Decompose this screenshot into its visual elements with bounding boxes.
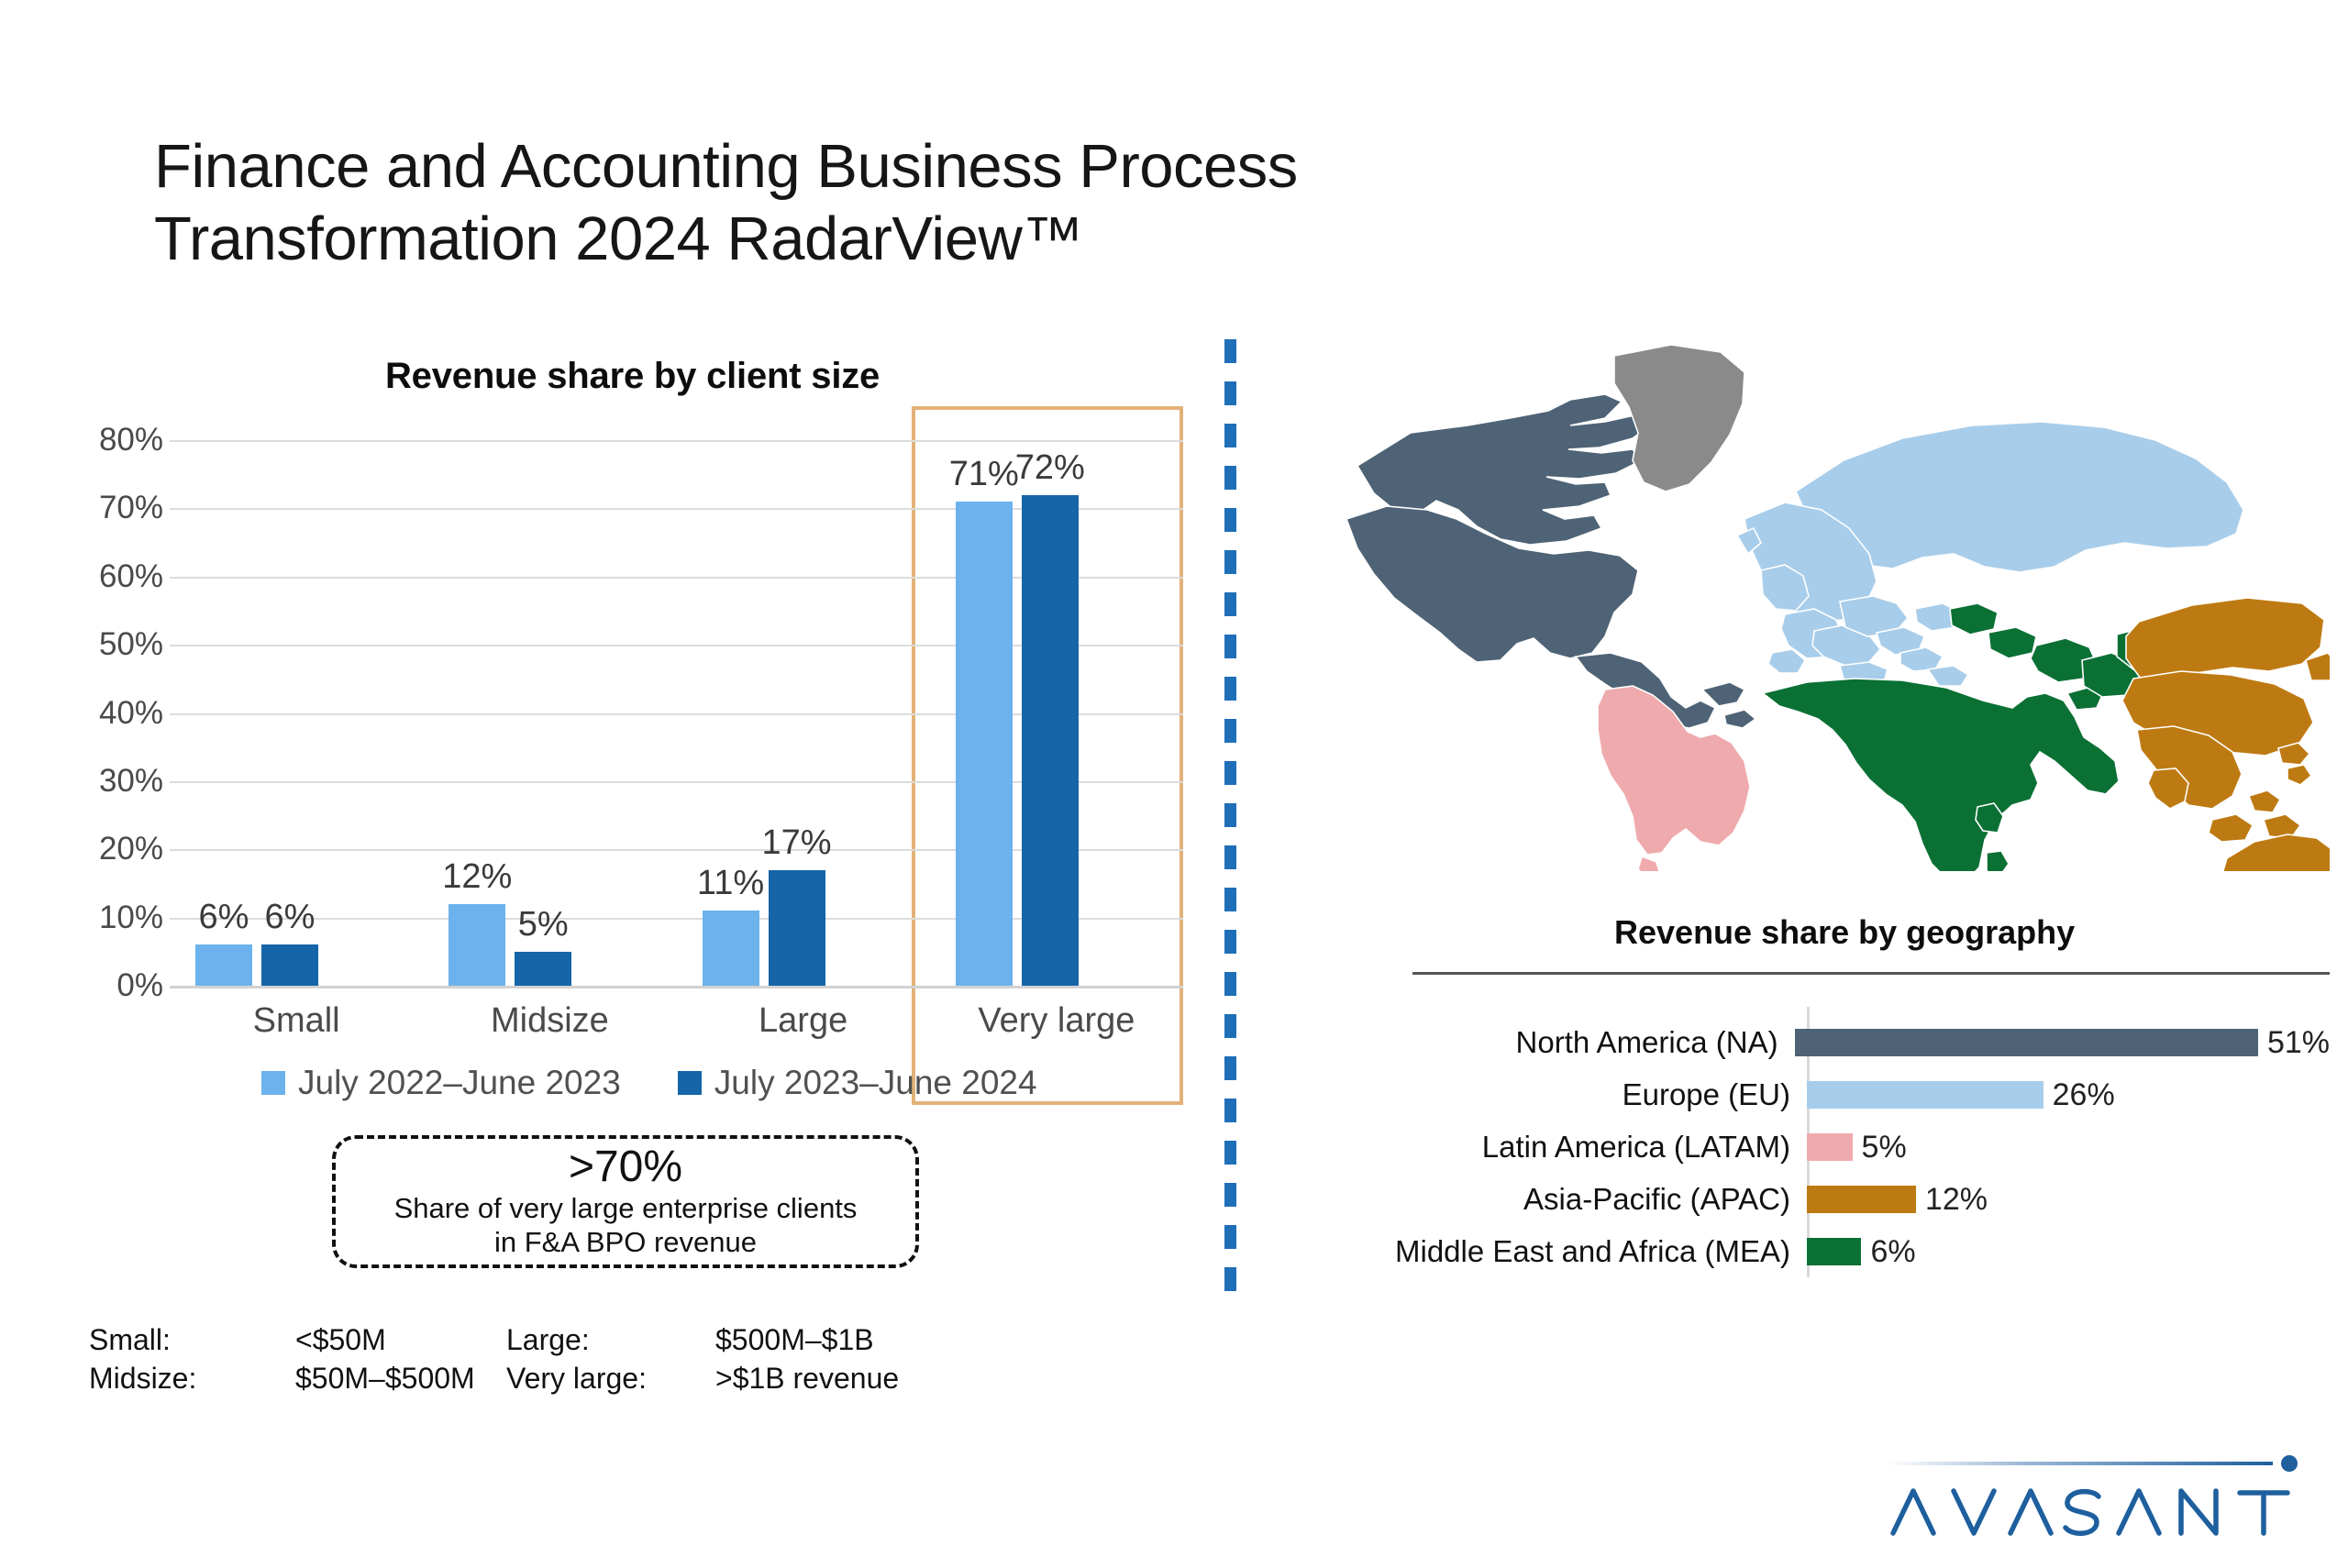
- bar-value-label: 6%: [265, 898, 316, 937]
- bar-value-label: 5%: [518, 905, 569, 944]
- geography-chart: North America (NA)51%Europe (EU)26%Latin…: [1376, 1018, 2330, 1284]
- callout-line-2: in F&A BPO revenue: [494, 1226, 757, 1260]
- callout-line-1: Share of very large enterprise clients: [394, 1192, 858, 1226]
- footnote-val-small: <$50M: [295, 1320, 506, 1359]
- geography-bar-area: 12%: [1807, 1175, 2330, 1224]
- bar-value-label: 11%: [697, 864, 764, 903]
- x-axis-category-label: Midsize: [423, 1001, 676, 1041]
- y-axis-tick-label: 30%: [99, 763, 163, 800]
- bar: 72%: [1022, 495, 1079, 987]
- gridline: [170, 986, 1183, 988]
- x-axis-category-label: Small: [170, 1001, 423, 1041]
- y-axis-tick-label: 10%: [99, 900, 163, 936]
- bar: 71%: [956, 502, 1013, 986]
- y-axis-tick-label: 40%: [99, 695, 163, 732]
- x-axis-category-label: Very large: [930, 1001, 1183, 1041]
- geography-row: Asia-Pacific (APAC)12%: [1376, 1175, 2330, 1224]
- bar-group: 11%17%: [677, 440, 930, 986]
- footnote-row: Small: <$50M Large: $500M–$1B: [89, 1320, 899, 1359]
- bar: 6%: [261, 944, 318, 986]
- bar: 11%: [703, 911, 759, 986]
- bar: 5%: [515, 952, 571, 986]
- client-size-legend: July 2022–June 2023July 2023–June 2024: [261, 1064, 1037, 1102]
- geography-bar-area: 6%: [1807, 1227, 2330, 1276]
- bar-group: 12%5%: [423, 440, 676, 986]
- footnote-key-very-large: Very large:: [506, 1359, 715, 1397]
- page-title: Finance and Accounting Business Process …: [154, 130, 1713, 275]
- geography-label: Europe (EU): [1376, 1077, 1807, 1112]
- y-axis-tick-label: 20%: [99, 831, 163, 867]
- geography-chart-title: Revenue share by geography: [1614, 913, 2075, 952]
- legend-item: July 2022–June 2023: [261, 1064, 621, 1102]
- geography-value-label: 51%: [2267, 1025, 2330, 1061]
- geography-bar: [1807, 1081, 2043, 1109]
- y-axis-tick-label: 70%: [99, 490, 163, 526]
- geography-row: North America (NA)51%: [1376, 1018, 2330, 1067]
- geography-row: Latin America (LATAM)5%: [1376, 1122, 2330, 1172]
- geography-value-label: 26%: [2053, 1077, 2115, 1113]
- bar: 17%: [769, 870, 825, 986]
- geography-bar: [1795, 1029, 2258, 1056]
- callout-box: >70% Share of very large enterprise clie…: [332, 1135, 919, 1268]
- geography-label: Middle East and Africa (MEA): [1376, 1234, 1807, 1269]
- bar-value-label: 72%: [1015, 448, 1085, 488]
- geography-row: Europe (EU)26%: [1376, 1070, 2330, 1120]
- avasant-logo: [1888, 1454, 2309, 1546]
- legend-swatch: [678, 1071, 702, 1095]
- legend-label: July 2022–June 2023: [298, 1064, 621, 1102]
- footnote-val-midsize: $50M–$500M: [295, 1359, 506, 1397]
- y-axis-tick-label: 0%: [116, 967, 163, 1004]
- geography-bar-area: 5%: [1807, 1122, 2330, 1172]
- client-size-chart-title: Revenue share by client size: [385, 356, 880, 397]
- geography-label: North America (NA): [1376, 1025, 1795, 1060]
- geography-bar-area: 26%: [1807, 1070, 2330, 1120]
- map-region-apac: [2122, 598, 2330, 871]
- geography-bar: [1807, 1186, 1916, 1213]
- y-axis-tick-label: 80%: [99, 422, 163, 458]
- geography-value-label: 6%: [1870, 1234, 1915, 1270]
- slide-root: Finance and Accounting Business Process …: [0, 0, 2348, 1568]
- bar: 12%: [449, 904, 505, 986]
- bar: 6%: [195, 944, 252, 986]
- footnote-key-small: Small:: [89, 1320, 295, 1359]
- map-region-latin-america: [1598, 686, 1750, 871]
- bar-group: 6%6%: [170, 440, 423, 986]
- client-size-plot: 6%6%Small12%5%Midsize11%17%Large71%72%Ve…: [170, 440, 1183, 986]
- legend-label: July 2023–June 2024: [714, 1064, 1037, 1102]
- y-axis-tick-label: 50%: [99, 626, 163, 663]
- map-region-greenland: [1614, 345, 1744, 491]
- geography-bar-area: 51%: [1795, 1018, 2330, 1067]
- footnote-key-large: Large:: [506, 1320, 715, 1359]
- geography-bar: [1807, 1238, 1861, 1265]
- footnote-key-midsize: Midsize:: [89, 1359, 295, 1397]
- geography-row: Middle East and Africa (MEA)6%: [1376, 1227, 2330, 1276]
- bar-value-label: 6%: [199, 898, 249, 937]
- bar-value-label: 71%: [949, 455, 1019, 494]
- vertical-dashed-divider: [1224, 339, 1236, 1293]
- client-size-footnote: Small: <$50M Large: $500M–$1B Midsize: $…: [89, 1320, 899, 1397]
- geography-rule: [1412, 972, 2330, 975]
- legend-item: July 2023–June 2024: [678, 1064, 1037, 1102]
- y-axis-labels: 0%10%20%30%40%50%60%70%80%: [64, 440, 163, 986]
- footnote-val-large: $500M–$1B: [715, 1320, 899, 1359]
- y-axis-tick-label: 60%: [99, 558, 163, 595]
- bar-value-label: 17%: [761, 823, 831, 863]
- callout-headline: >70%: [569, 1144, 682, 1190]
- geography-value-label: 12%: [1925, 1182, 1988, 1218]
- geography-value-label: 5%: [1862, 1130, 1907, 1165]
- footnote-val-very-large: >$1B revenue: [715, 1359, 899, 1397]
- x-axis-category-label: Large: [677, 1001, 930, 1041]
- bar-value-label: 12%: [442, 857, 512, 897]
- legend-swatch: [261, 1071, 285, 1095]
- geography-bar: [1807, 1133, 1853, 1161]
- geography-label: Asia-Pacific (APAC): [1376, 1182, 1807, 1217]
- footnote-row: Midsize: $50M–$500M Very large: >$1B rev…: [89, 1359, 899, 1397]
- geography-label: Latin America (LATAM): [1376, 1130, 1807, 1165]
- bar-group: 71%72%: [930, 440, 1183, 986]
- world-map: [1330, 330, 2330, 871]
